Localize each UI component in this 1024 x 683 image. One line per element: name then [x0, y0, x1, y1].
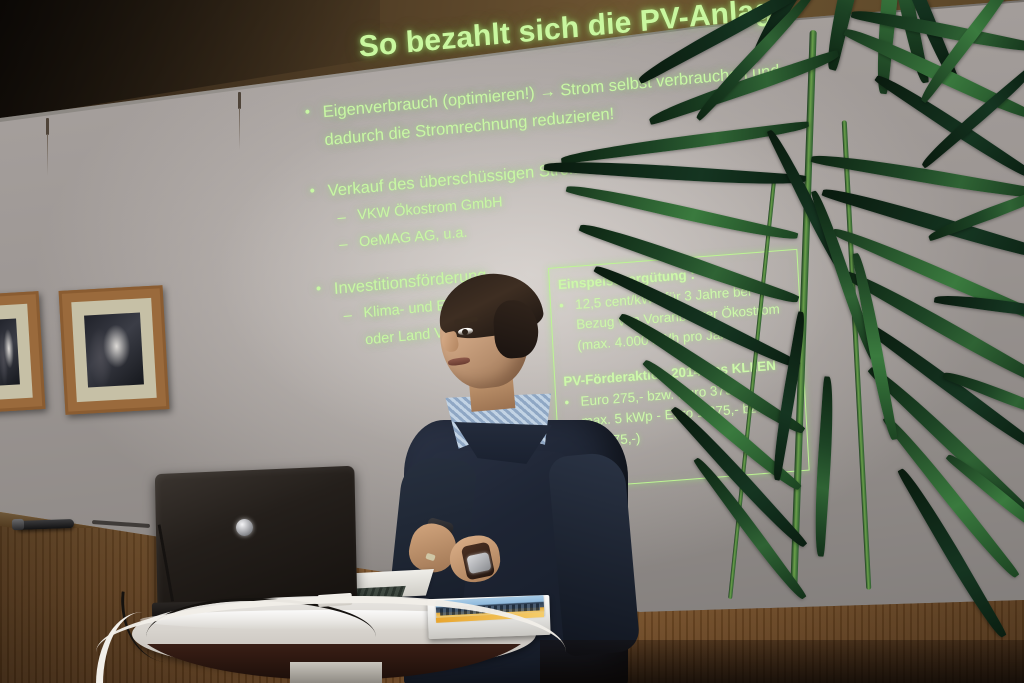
microphone-head-icon: [12, 519, 24, 530]
screen-hook-wire: [239, 108, 240, 150]
picture-mat: [0, 304, 33, 400]
screen-hook: [238, 92, 241, 109]
framed-picture: [0, 291, 45, 413]
table-base: [290, 662, 382, 683]
screen-hook-wire: [47, 134, 48, 176]
hp-logo-icon: [236, 519, 253, 536]
picture-mat: [71, 298, 156, 402]
presentation-scene: So bezahlt sich die PV-Anlage • Eigenver…: [0, 0, 1024, 683]
screen-hook: [46, 118, 49, 135]
picture-artwork: [0, 318, 20, 385]
framed-picture: [59, 285, 170, 415]
picture-artwork: [84, 312, 144, 387]
floor-shadow: [540, 640, 1024, 683]
presenter-pupil: [462, 329, 468, 335]
